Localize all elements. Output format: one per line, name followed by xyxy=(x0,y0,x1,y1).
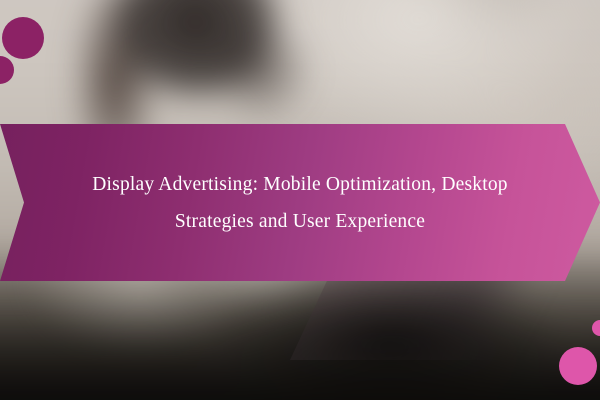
page-title: Display Advertising: Mobile Optimization… xyxy=(65,166,535,240)
title-banner: Display Advertising: Mobile Optimization… xyxy=(0,124,600,281)
decorative-dot-bottom-right-large xyxy=(559,347,597,385)
title-slide: Display Advertising: Mobile Optimization… xyxy=(0,0,600,400)
decorative-dot-top-left-large xyxy=(2,17,44,59)
